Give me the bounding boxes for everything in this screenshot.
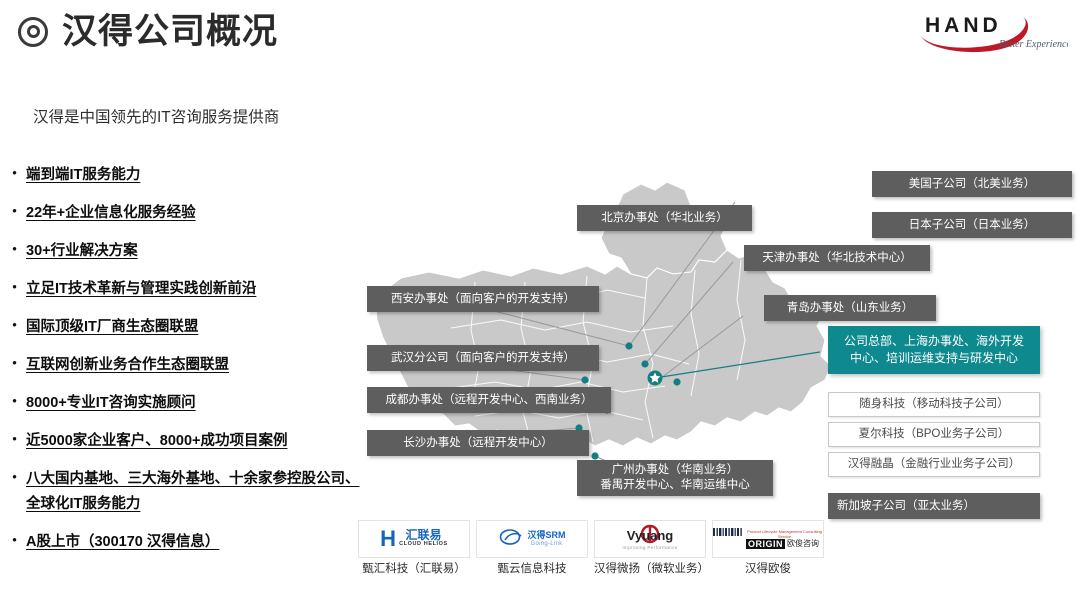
bullet-dot: • bbox=[10, 530, 19, 550]
logo-item-cloud-helios[interactable]: H 汇联易 CLOUD HELIOS 甄汇科技（汇联易） bbox=[358, 520, 470, 577]
logo-box: Product Lifecycle Management Consulting … bbox=[712, 520, 824, 558]
list-item: • 国际顶级IT厂商生态圈联盟 bbox=[10, 315, 365, 340]
list-item: • 端到端IT服务能力 bbox=[10, 163, 365, 188]
callout-label-line2: 番禺开发中心、华南运维中心 bbox=[600, 478, 750, 493]
bullet-dot: • bbox=[10, 315, 19, 335]
bullet-dot: • bbox=[10, 201, 19, 221]
callout-qingdao[interactable]: 青岛办事处（山东业务） bbox=[764, 295, 936, 321]
page-title: 汉得公司概况 bbox=[62, 14, 278, 49]
callout-label: 长沙办事处（远程开发中心） bbox=[403, 436, 553, 451]
list-item: • 22年+企业信息化服务经验 bbox=[10, 201, 365, 226]
bullseye-icon bbox=[18, 17, 48, 47]
list-item-label: 互联网创新业务合作生态圈联盟 bbox=[26, 353, 229, 378]
list-item-label: 国际顶级IT厂商生态圈联盟 bbox=[26, 315, 198, 340]
bullet-dot: • bbox=[10, 277, 19, 297]
origin-logo-mark: Product Lifecycle Management Consulting … bbox=[713, 528, 823, 551]
bullet-dot: • bbox=[10, 467, 19, 487]
logo-item-hand-srm[interactable]: 汉得SRM Going-Link 甄云信息科技 bbox=[476, 520, 588, 577]
hand-logo: HAND Better Experience bbox=[913, 6, 1068, 54]
callout-label: 青岛办事处（山东业务） bbox=[787, 301, 914, 316]
list-item: • 8000+专业IT咨询实施顾问 bbox=[10, 391, 365, 416]
list-item-label: 30+行业解决方案 bbox=[26, 239, 138, 264]
logo-item-origin[interactable]: Product Lifecycle Management Consulting … bbox=[712, 520, 824, 577]
list-item: • 八大国内基地、三大海外基地、十余家参控股公司、全球化IT服务能力 bbox=[10, 467, 365, 517]
logo-mark-en: Improving Performance bbox=[622, 545, 677, 551]
callout-beijing[interactable]: 北京办事处（华北业务） bbox=[577, 205, 752, 231]
callout-subsidiary-suishen[interactable]: 随身科技（移动科技子公司） bbox=[828, 392, 1040, 417]
logo-box: Vyuang Improving Performance bbox=[594, 520, 706, 558]
cloud-icon bbox=[499, 527, 525, 552]
logo-caption: 汉得微扬（微软业务） bbox=[594, 562, 706, 577]
callout-guangzhou[interactable]: 广州办事处（华南业务） 番禺开发中心、华南运维中心 bbox=[577, 460, 773, 496]
headquarters-star-marker bbox=[648, 371, 663, 386]
subsidiary-logo-strip: H 汇联易 CLOUD HELIOS 甄汇科技（汇联易） bbox=[358, 520, 828, 605]
callout-headquarters[interactable]: 公司总部、上海办事处、海外开发 中心、培训运维支持与研发中心 bbox=[828, 326, 1040, 374]
callout-changsha[interactable]: 长沙办事处（远程开发中心） bbox=[367, 430, 589, 456]
logo-mark-cn: 汇联易 bbox=[399, 530, 448, 541]
callout-label: 新加坡子公司（亚太业务） bbox=[837, 499, 975, 514]
highlights-list: • 端到端IT服务能力 • 22年+企业信息化服务经验 • 30+行业解决方案 … bbox=[10, 163, 365, 568]
logo-mark-cn: 汉得SRM bbox=[528, 530, 566, 540]
headquarters-label-line1: 公司总部、上海办事处、海外开发 bbox=[844, 333, 1024, 350]
list-item-label: 近5000家企业客户、8000+成功项目案例 bbox=[26, 429, 287, 454]
bullet-dot: • bbox=[10, 163, 19, 183]
page-header: 汉得公司概况 bbox=[18, 14, 278, 49]
callout-japan[interactable]: 日本子公司（日本业务） bbox=[872, 212, 1072, 238]
callout-label: 武汉分公司（面向客户的开发支持） bbox=[391, 351, 575, 366]
callout-subsidiary-rongjing[interactable]: 汉得融晶（金融行业业务子公司） bbox=[828, 452, 1040, 477]
callout-xian[interactable]: 西安办事处（面向客户的开发支持） bbox=[367, 286, 599, 312]
list-item-label: 立足IT技术革新与管理实践创新前沿 bbox=[26, 277, 256, 302]
vyuang-logo-mark: Vyuang Improving Performance bbox=[622, 527, 677, 551]
callout-label: 日本子公司（日本业务） bbox=[909, 218, 1036, 233]
list-item-label: 22年+企业信息化服务经验 bbox=[26, 201, 196, 226]
callout-label: 西安办事处（面向客户的开发支持） bbox=[391, 292, 575, 307]
list-item: • 近5000家企业客户、8000+成功项目案例 bbox=[10, 429, 365, 454]
callout-label: 天津办事处（华北技术中心） bbox=[762, 251, 912, 266]
list-item-label: 八大国内基地、三大海外基地、十余家参控股公司、全球化IT服务能力 bbox=[26, 467, 365, 517]
callout-singapore[interactable]: 新加坡子公司（亚太业务） bbox=[828, 493, 1040, 519]
china-map-region: 美国子公司（北美业务） 日本子公司（日本业务） 北京办事处（华北业务） 天津办事… bbox=[355, 150, 1080, 510]
callout-label: 北京办事处（华北业务） bbox=[601, 211, 728, 226]
logo-mark-en: Going-Link bbox=[528, 540, 566, 548]
slide-canvas: 汉得公司概况 汉得是中国领先的IT咨询服务提供商 HAND Better Exp… bbox=[0, 0, 1080, 607]
bullet-dot: • bbox=[10, 239, 19, 259]
logo-caption: 汉得欧俊 bbox=[712, 562, 824, 577]
hand-srm-logo-mark: 汉得SRM Going-Link bbox=[499, 527, 566, 552]
callout-label-line1: 广州办事处（华南业务） bbox=[612, 463, 739, 478]
callout-chengdu[interactable]: 成都办事处（远程开发中心、西南业务） bbox=[367, 387, 611, 413]
callout-tianjin[interactable]: 天津办事处（华北技术中心） bbox=[744, 245, 930, 271]
list-item: • 30+行业解决方案 bbox=[10, 239, 365, 264]
logo-box: 汉得SRM Going-Link bbox=[476, 520, 588, 558]
logo-mark-cn: Vyuang bbox=[627, 528, 673, 543]
list-item: • 互联网创新业务合作生态圈联盟 bbox=[10, 353, 365, 378]
logo-mark-en: CLOUD HELIOS bbox=[399, 541, 448, 548]
callout-label: 成都办事处（远程开发中心、西南业务） bbox=[386, 393, 593, 408]
page-subtitle: 汉得是中国领先的IT咨询服务提供商 bbox=[33, 105, 279, 127]
origin-barcode-icon bbox=[713, 528, 743, 551]
headquarters-label-line2: 中心、培训运维支持与研发中心 bbox=[850, 350, 1018, 367]
subsidiary-label: 随身科技（移动科技子公司） bbox=[859, 397, 1009, 412]
subsidiary-label: 夏尔科技（BPO业务子公司） bbox=[859, 427, 1010, 442]
svg-text:Better Experience: Better Experience bbox=[999, 39, 1068, 50]
logo-mark-cn: 欧俊咨询 bbox=[787, 539, 819, 549]
logo-caption: 甄汇科技（汇联易） bbox=[358, 562, 470, 577]
callout-wuhan[interactable]: 武汉分公司（面向客户的开发支持） bbox=[367, 345, 599, 371]
logo-box: H 汇联易 CLOUD HELIOS bbox=[358, 520, 470, 558]
bullet-dot: • bbox=[10, 353, 19, 373]
logo-mark-sub: Product Lifecycle Management Consulting … bbox=[746, 529, 823, 539]
logo-item-vyuang[interactable]: Vyuang Improving Performance 汉得微扬（微软业务） bbox=[594, 520, 706, 577]
list-item-label: 8000+专业IT咨询实施顾问 bbox=[26, 391, 196, 416]
bullet-dot: • bbox=[10, 391, 19, 411]
bullet-dot: • bbox=[10, 429, 19, 449]
list-item: • A股上市（300170 汉得信息） bbox=[10, 530, 365, 555]
list-item-label: A股上市（300170 汉得信息） bbox=[26, 530, 219, 555]
callout-usa[interactable]: 美国子公司（北美业务） bbox=[872, 171, 1072, 197]
logo-mark-en: ORIGIN bbox=[746, 539, 785, 549]
logo-caption: 甄云信息科技 bbox=[476, 562, 588, 577]
callout-label: 美国子公司（北美业务） bbox=[909, 177, 1036, 192]
subsidiary-label: 汉得融晶（金融行业业务子公司） bbox=[848, 457, 1021, 472]
list-item: • 立足IT技术革新与管理实践创新前沿 bbox=[10, 277, 365, 302]
svg-text:HAND: HAND bbox=[925, 14, 1002, 37]
cloud-helios-logo-mark: H 汇联易 CLOUD HELIOS bbox=[380, 528, 448, 550]
helios-h-icon: H bbox=[380, 528, 396, 550]
list-item-label: 端到端IT服务能力 bbox=[26, 163, 140, 188]
callout-subsidiary-xiaer[interactable]: 夏尔科技（BPO业务子公司） bbox=[828, 422, 1040, 447]
